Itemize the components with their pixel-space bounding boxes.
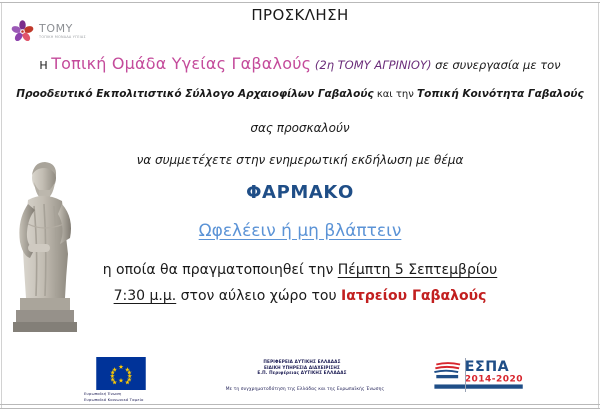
espa-divider [465,358,466,392]
tomy-subtitle: ΤΟΠΙΚΗ ΜΟΝΑΔΑ ΥΓΕΙΑΣ [39,36,86,39]
svg-text:ΕΣΠΑ: ΕΣΠΑ [465,359,509,375]
event-date-value: Πέμπτη 5 Σεπτεμβρίου [338,262,498,278]
partner-community: Τοπική Κοινότητα Γαβαλούς [417,88,584,100]
partners-line: Προοδευτικό Εκπολιτιστικό Σύλλογο Αρχαιο… [0,88,600,100]
managing-authority-block: ΠΕΡΙΦΕΡΕΙΑ ΔΥΤΙΚΗΣ ΕΛΛΑΔΑΣ ΕΙΔΙΚΗ ΥΠΗΡΕΣ… [172,359,432,376]
invite-line: σας προσκαλούν [0,121,600,135]
ministry-line-3: Ε.Π. Περιφέρειας ΔΥΤΙΚΗΣ ΕΛΛΑΔΑΣ [172,370,432,376]
hippocrates-statue-image [8,158,90,334]
svg-text:2014-2020: 2014-2020 [465,375,523,385]
event-time-line: 7:30 μ.μ. στον αύλειο χώρο του Ιατρείου … [0,288,600,304]
topic-subtitle: Ωφελέειν ή μη βλάπτειν [0,221,600,241]
eu-caption-line2: Ευρωπαϊκό Κοινωνικό Ταμείο [84,397,202,402]
theme-line: να συμμετέχετε στην ενημερωτική εκδήλωση… [0,153,600,167]
organizer-lead: Η [39,59,51,72]
topic-title: ΦΑΡΜΑΚΟ [0,182,600,203]
event-venue: Ιατρείου Γαβαλούς [341,288,486,304]
invitation-poster: ΤΟΜΥ ΤΟΠΙΚΗ ΜΟΝΑΔΑ ΥΓΕΙΑΣ ΠΡΟΣΚΛΗΣΗ Η Το… [0,0,600,411]
espa-logo-icon: ΕΣΠΑ 2014-2020 [432,355,528,393]
organizer-name: Τοπική Ομάδα Υγείας Γαβαλούς [51,54,311,73]
page-title: ΠΡΟΣΚΛΗΣΗ [0,6,600,24]
event-date-prefix: η οποία θα πραγματοποιηθεί την [103,262,338,278]
partner-association: Προοδευτικό Εκπολιτιστικό Σύλλογο Αρχαιο… [16,88,373,100]
footer-funding-band: Ευρωπαϊκή Ένωση Ευρωπαϊκό Κοινωνικό Ταμε… [0,353,600,405]
cofunding-statement: Με τη συγχρηματοδότηση της Ελλάδας και τ… [150,387,460,392]
espa-logo-block: ΕΣΠΑ 2014-2020 [432,355,528,393]
partners-conjunction: και την [374,89,417,100]
organizer-unit: (2η ΤΟΜΥ ΑΓΡΙΝΙΟΥ) [311,58,431,72]
organizer-line: Η Τοπική Ομάδα Υγείας Γαβαλούς (2η ΤΟΜΥ … [0,54,600,73]
tomy-name: ΤΟΜΥ [39,23,86,34]
frame-line-bottom [0,408,600,409]
eu-flag-icon [84,357,158,390]
event-date-line: η οποία θα πραγματοποιηθεί την Πέμπτη 5 … [0,262,600,278]
organizer-tail: σε συνεργασία με τον [432,58,561,72]
tomy-wordmark: ΤΟΜΥ ΤΟΠΙΚΗ ΜΟΝΑΔΑ ΥΓΕΙΑΣ [39,23,86,39]
frame-line-top [0,2,600,3]
footer-separator [0,404,600,405]
event-time-middle: στον αύλειο χώρο του [176,288,341,304]
event-time-value: 7:30 μ.μ. [114,288,177,304]
